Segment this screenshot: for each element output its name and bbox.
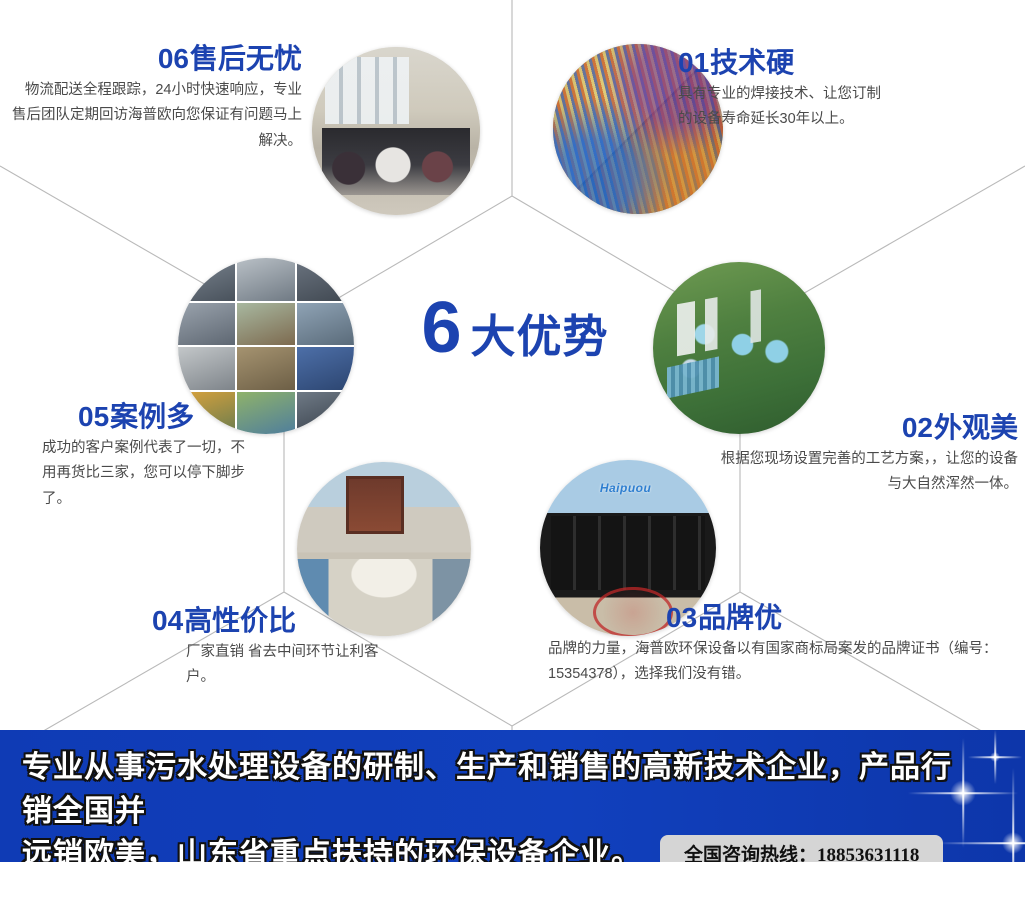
aerial-treatment-plant-image — [653, 262, 825, 434]
feature-05-number: 05 — [78, 401, 109, 432]
feature-02-heading: 02外观美 — [718, 413, 1018, 444]
feature-block-02: 02外观美 根据您现场设置完善的工艺方案，，让您的设备与大自然浑然一体。 — [718, 413, 1018, 498]
bottom-banner: 专业从事污水处理设备的研制、生产和销售的高新技术企业，产品行销全国并 远销欧美，… — [0, 730, 1025, 862]
haipuou-watermark: Haipuou — [600, 481, 652, 495]
feature-block-04: 04高性价比 厂家直销 省去中间环节让利客户。 — [152, 606, 482, 691]
feature-02-number: 02 — [902, 412, 933, 443]
center-label: 大优势 — [471, 314, 609, 359]
banner-line-1: 专业从事污水处理设备的研制、生产和销售的高新技术企业，产品行销全国并 — [22, 746, 982, 833]
feature-03-number: 03 — [666, 602, 697, 633]
feature-02-body: 根据您现场设置完善的工艺方案，，让您的设备与大自然浑然一体。 — [718, 447, 1018, 498]
feature-block-05: 05案例多 成功的客户案例代表了一切，不用再货比三家，您可以停下脚步了。 — [42, 402, 322, 512]
banner-text: 专业从事污水处理设备的研制、生产和销售的高新技术企业，产品行销全国并 远销欧美，… — [22, 746, 982, 862]
feature-04-body: 厂家直销 省去中间环节让利客户。 — [186, 640, 396, 691]
feature-block-01: 01技术硬 具有专业的焊接技术、让您订制的设备寿命延长30年以上。 — [678, 48, 988, 133]
feature-01-number: 01 — [678, 47, 709, 78]
feature-03-title: 品牌优 — [698, 602, 782, 633]
hotline-text: 全国咨询热线：18853631118 — [684, 842, 919, 862]
hotline-pill[interactable]: 全国咨询热线：18853631118 — [660, 835, 943, 862]
feature-03-heading: 03品牌优 — [666, 603, 1018, 634]
banner-line-2: 远销欧美，山东省重点扶持的环保设备企业。 — [22, 833, 642, 862]
feature-block-03: 03品牌优 品牌的力量，海普欧环保设备以有国家商标局案发的品牌证书（编号：153… — [548, 603, 1018, 688]
feature-01-heading: 01技术硬 — [678, 48, 988, 79]
photo-circle-aerial-plant — [653, 262, 825, 434]
infographic-stage: 6 大优势 Haipuou 06售后无忧 物流配送全程跟踪，24小时快速响应，专… — [0, 0, 1025, 862]
feature-06-heading: 06售后无忧 — [12, 44, 302, 75]
feature-06-title: 售后无忧 — [190, 43, 302, 74]
feature-06-body: 物流配送全程跟踪，24小时快速响应，专业售后团队定期回访海普欧向您保证有问题马上… — [12, 78, 302, 154]
feature-05-heading: 05案例多 — [78, 402, 322, 433]
feature-06-number: 06 — [158, 43, 189, 74]
feature-04-heading: 04高性价比 — [152, 606, 482, 637]
feature-01-body: 具有专业的焊接技术、让您订制的设备寿命延长30年以上。 — [678, 82, 893, 133]
feature-05-body: 成功的客户案例代表了一切，不用再货比三家，您可以停下脚步了。 — [42, 436, 257, 512]
center-number: 6 — [421, 292, 460, 364]
feature-04-number: 04 — [152, 605, 183, 636]
feature-03-body: 品牌的力量，海普欧环保设备以有国家商标局案发的品牌证书（编号：15354378）… — [548, 637, 1018, 688]
feature-02-title: 外观美 — [934, 412, 1018, 443]
feature-01-title: 技术硬 — [710, 47, 794, 78]
feature-block-06: 06售后无忧 物流配送全程跟踪，24小时快速响应，专业售后团队定期回访海普欧向您… — [12, 44, 302, 154]
center-title: 6 大优势 — [380, 292, 650, 382]
feature-05-title: 案例多 — [110, 401, 194, 432]
banner-line-2-row: 远销欧美，山东省重点扶持的环保设备企业。 全国咨询热线：18853631118 — [22, 833, 982, 862]
feature-04-title: 高性价比 — [184, 605, 296, 636]
photo-circle-office-staff — [312, 47, 480, 215]
office-staff-image — [312, 47, 480, 215]
